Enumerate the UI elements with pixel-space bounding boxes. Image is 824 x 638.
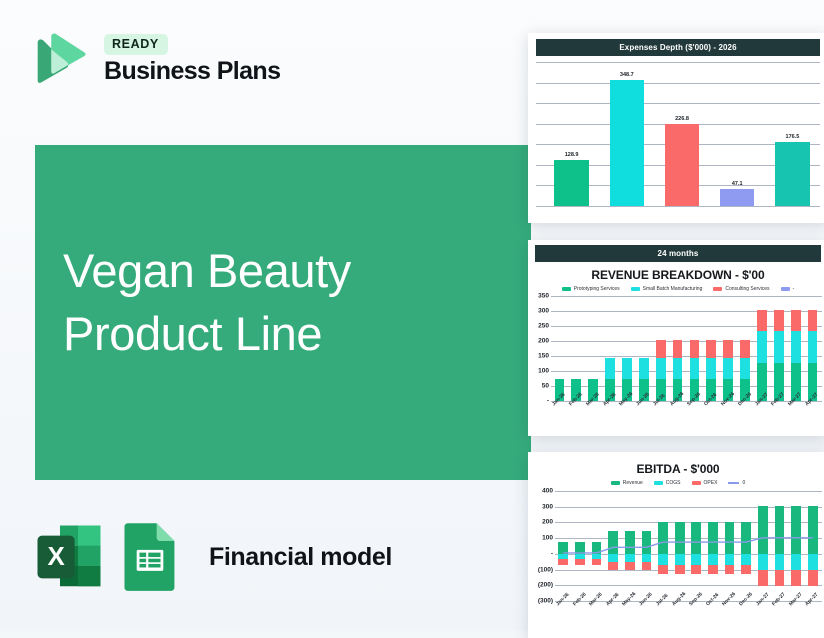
y-tick-label: 100 xyxy=(538,368,549,375)
diverging-bar-column[interactable] xyxy=(638,491,655,601)
stacked-bar-column[interactable] xyxy=(568,296,585,401)
stack-segment-revenue[interactable] xyxy=(725,522,735,554)
diverging-bar-column[interactable] xyxy=(655,491,672,601)
y-tick-label: 200 xyxy=(538,338,549,345)
legend-item: 0 xyxy=(728,480,745,486)
bar-column[interactable]: 128.9 xyxy=(544,62,599,206)
y-tick-label: (300) xyxy=(538,598,553,605)
stacked-bar-column[interactable] xyxy=(787,296,804,401)
diverging-bar-column[interactable] xyxy=(605,491,622,601)
stack-segment-revenue[interactable] xyxy=(558,542,568,554)
brand-name: Business Plans xyxy=(104,58,280,84)
stack-segment[interactable] xyxy=(774,331,784,363)
legend-item: Prototyping Services xyxy=(562,286,620,292)
stack-segment-revenue[interactable] xyxy=(658,522,668,554)
stack-segment-revenue[interactable] xyxy=(741,522,751,554)
stack-segment[interactable] xyxy=(673,340,683,358)
bar-value-label: 226.8 xyxy=(675,116,689,122)
y-tick-label: 350 xyxy=(538,293,549,300)
stack-segment-cogs[interactable] xyxy=(791,554,801,571)
legend-label: Prototyping Services xyxy=(574,286,620,292)
ready-badge: READY xyxy=(104,34,168,54)
legend-swatch xyxy=(631,287,640,291)
y-tick-label: 50 xyxy=(542,383,549,390)
bar[interactable] xyxy=(775,142,809,206)
stack-segment-opex[interactable] xyxy=(642,562,652,570)
stack-segment-cogs[interactable] xyxy=(642,554,652,563)
diverging-bar-column[interactable] xyxy=(688,491,705,601)
stacked-bar-column[interactable] xyxy=(686,296,703,401)
stack-segment-cogs[interactable] xyxy=(725,554,735,565)
chart-card-ebitda[interactable]: EBITDA - $'000 RevenueCOGSOPEX0 40030020… xyxy=(528,452,824,638)
stack-segment-revenue[interactable] xyxy=(691,522,701,554)
stack-segment[interactable] xyxy=(723,358,733,379)
revenue-plot-area: 35030025020015010050-Jan-26Feb-26Mar-26A… xyxy=(534,296,822,401)
stacked-bar-column[interactable] xyxy=(754,296,771,401)
stacked-bar-column[interactable] xyxy=(585,296,602,401)
stack-segment-opex[interactable] xyxy=(791,570,801,585)
diverging-bar-column[interactable] xyxy=(721,491,738,601)
stack-segment-opex[interactable] xyxy=(625,562,635,570)
ebitda-legend: RevenueCOGSOPEX0 xyxy=(528,478,824,489)
bar-value-label: 348.7 xyxy=(620,72,634,78)
y-tick-label: - xyxy=(547,398,549,405)
stack-segment-cogs[interactable] xyxy=(708,554,718,565)
stack-segment-revenue[interactable] xyxy=(608,531,618,554)
bar-value-label: 47.1 xyxy=(732,181,743,187)
stack-segment-opex[interactable] xyxy=(741,565,751,574)
legend-label: OPEX xyxy=(704,480,718,486)
diverging-bar-column[interactable] xyxy=(804,491,821,601)
stack-segment-cogs[interactable] xyxy=(741,554,751,565)
stacked-bar-group xyxy=(551,296,821,401)
stacked-bar-column[interactable] xyxy=(720,296,737,401)
google-sheets-icon xyxy=(121,521,187,593)
stack-segment-opex[interactable] xyxy=(758,570,768,585)
stacked-bar-column[interactable] xyxy=(737,296,754,401)
stack-segment-cogs[interactable] xyxy=(808,554,818,571)
y-tick-label: - xyxy=(551,550,553,557)
y-tick-label: 400 xyxy=(542,488,553,495)
ebitda-plot-area: 400300200100-(100)(200)(300)Jan-26Feb-26… xyxy=(534,491,822,601)
stack-segment-cogs[interactable] xyxy=(691,554,701,565)
stack-segment[interactable] xyxy=(757,331,767,363)
stack-segment[interactable] xyxy=(740,358,750,379)
stack-segment[interactable] xyxy=(673,358,683,379)
diverging-bar-column[interactable] xyxy=(622,491,639,601)
stacked-bar-column[interactable] xyxy=(635,296,652,401)
bar[interactable] xyxy=(720,189,754,206)
stacked-bar-column[interactable] xyxy=(770,296,787,401)
stacked-bar-column[interactable] xyxy=(619,296,636,401)
stack-segment[interactable] xyxy=(723,340,733,358)
legend-label: - xyxy=(793,286,795,292)
stack-segment-opex[interactable] xyxy=(775,570,785,585)
bar[interactable] xyxy=(554,160,588,206)
y-axis-labels: 400300200100-(100)(200)(300) xyxy=(534,491,555,601)
microsoft-excel-icon: X xyxy=(33,521,105,593)
stacked-bar-column[interactable] xyxy=(652,296,669,401)
legend-swatch xyxy=(611,481,620,485)
stack-segment[interactable] xyxy=(757,310,767,332)
stack-segment-opex[interactable] xyxy=(558,559,568,565)
y-tick-label: 200 xyxy=(542,519,553,526)
legend-label: COGS xyxy=(666,480,681,486)
diverging-bar-column[interactable] xyxy=(555,491,572,601)
stack-segment-opex[interactable] xyxy=(725,565,735,574)
stack-segment-opex[interactable] xyxy=(575,559,585,565)
play-triangles-logo xyxy=(28,28,90,90)
stacked-bar-column[interactable] xyxy=(551,296,568,401)
stack-segment[interactable] xyxy=(774,310,784,332)
legend-item: - xyxy=(781,286,795,292)
stack-segment-cogs[interactable] xyxy=(775,554,785,571)
hero-panel: Vegan Beauty Product Line xyxy=(35,145,531,480)
diverging-bar-column[interactable] xyxy=(738,491,755,601)
legend-item: OPEX xyxy=(692,480,718,486)
stack-segment-revenue[interactable] xyxy=(708,522,718,554)
stack-segment[interactable] xyxy=(706,340,716,358)
diverging-bar-column[interactable] xyxy=(755,491,772,601)
diverging-bar-column[interactable] xyxy=(588,491,605,601)
stack-segment-cogs[interactable] xyxy=(675,554,685,565)
bar-column[interactable]: 47.1 xyxy=(710,62,765,206)
stack-segment-revenue[interactable] xyxy=(625,531,635,554)
stack-segment-revenue[interactable] xyxy=(675,522,685,554)
legend-item: COGS xyxy=(654,480,681,486)
bar[interactable] xyxy=(665,124,699,206)
stack-segment-revenue[interactable] xyxy=(758,506,768,554)
stacked-bar-column[interactable] xyxy=(804,296,821,401)
stack-segment-cogs[interactable] xyxy=(658,554,668,565)
footer-label: Financial model xyxy=(209,543,392,572)
bar-value-label: 176.5 xyxy=(786,134,800,140)
footer-formats: X Financial model xyxy=(33,521,392,593)
stack-segment[interactable] xyxy=(808,310,818,332)
chart-card-revenue[interactable]: 24 months REVENUE BREAKDOWN - $'00 Proto… xyxy=(528,240,824,436)
x-axis-labels: Jan-26Feb-26Mar-26Apr-26May-26Jun-26Jul-… xyxy=(555,603,821,609)
stacked-bar-column[interactable] xyxy=(703,296,720,401)
stack-segment[interactable] xyxy=(791,310,801,332)
legend-item: Revenue xyxy=(611,480,643,486)
x-axis-labels: Jan-26Feb-26Mar-26Apr-26May-26Jun-26Jul-… xyxy=(551,403,821,409)
bar[interactable] xyxy=(610,80,644,206)
stack-segment-revenue[interactable] xyxy=(642,531,652,554)
ebitda-chart-title: EBITDA - $'000 xyxy=(528,452,824,478)
bar-column[interactable]: 348.7 xyxy=(599,62,654,206)
legend-swatch xyxy=(562,287,571,291)
stack-segment[interactable] xyxy=(740,340,750,358)
page-title: Vegan Beauty Product Line xyxy=(63,240,511,365)
diverging-bar-column[interactable] xyxy=(788,491,805,601)
stack-segment[interactable] xyxy=(605,358,615,379)
stack-segment[interactable] xyxy=(656,340,666,358)
legend-swatch xyxy=(713,287,722,291)
stack-segment-cogs[interactable] xyxy=(625,554,635,563)
revenue-legend: Prototyping ServicesSmall Batch Manufact… xyxy=(528,284,824,295)
legend-swatch xyxy=(692,481,701,485)
stack-segment-revenue[interactable] xyxy=(575,542,585,554)
y-tick-label: 300 xyxy=(538,308,549,315)
diverging-bar-column[interactable] xyxy=(705,491,722,601)
bar-column[interactable]: 226.8 xyxy=(654,62,709,206)
legend-label: Revenue xyxy=(623,480,643,486)
stack-segment[interactable] xyxy=(622,358,632,379)
legend-item: Small Batch Manufacturing xyxy=(631,286,703,292)
chart-card-expenses[interactable]: Expenses Depth ($'000) - 2026 128.9348.7… xyxy=(528,33,824,223)
brand-header: READY Business Plans xyxy=(28,28,280,90)
stack-segment[interactable] xyxy=(808,331,818,363)
y-tick-label: (200) xyxy=(538,582,553,589)
stack-segment-opex[interactable] xyxy=(675,565,685,574)
expenses-chart-title: Expenses Depth ($'000) - 2026 xyxy=(536,39,820,56)
stack-segment-opex[interactable] xyxy=(708,565,718,574)
legend-label: Small Batch Manufacturing xyxy=(643,286,703,292)
diverging-bar-group xyxy=(555,491,821,601)
y-axis-labels: 35030025020015010050- xyxy=(534,296,551,401)
stack-segment[interactable] xyxy=(690,358,700,379)
legend-swatch xyxy=(781,287,790,291)
stacked-bar-column[interactable] xyxy=(602,296,619,401)
stack-segment-opex[interactable] xyxy=(808,570,818,585)
bar-value-label: 128.9 xyxy=(565,152,579,158)
y-tick-label: (100) xyxy=(538,566,553,573)
brand-text-block: READY Business Plans xyxy=(104,34,280,84)
y-tick-label: 300 xyxy=(542,503,553,510)
stack-segment[interactable] xyxy=(639,358,649,379)
legend-label: 0 xyxy=(742,480,745,486)
slide-canvas: READY Business Plans Vegan Beauty Produc… xyxy=(0,0,824,631)
expenses-plot-area: 128.9348.7226.847.1176.5 xyxy=(536,62,820,210)
gridline xyxy=(536,206,820,207)
stacked-bar-column[interactable] xyxy=(669,296,686,401)
stack-segment-opex[interactable] xyxy=(608,562,618,570)
bar-column[interactable]: 176.5 xyxy=(765,62,820,206)
svg-text:X: X xyxy=(47,543,65,571)
stack-segment-opex[interactable] xyxy=(592,559,602,565)
legend-item: Consulting Services xyxy=(713,286,769,292)
y-tick-label: 100 xyxy=(542,535,553,542)
stack-segment-opex[interactable] xyxy=(691,565,701,574)
stack-segment[interactable] xyxy=(690,340,700,358)
stack-segment-cogs[interactable] xyxy=(758,554,768,571)
stack-segment[interactable] xyxy=(656,358,666,379)
y-tick-label: 250 xyxy=(538,323,549,330)
diverging-bar-column[interactable] xyxy=(572,491,589,601)
diverging-bar-column[interactable] xyxy=(771,491,788,601)
revenue-chart-title: REVENUE BREAKDOWN - $'00 xyxy=(528,262,824,284)
stack-segment-revenue[interactable] xyxy=(791,506,801,554)
legend-label: Consulting Services xyxy=(725,286,769,292)
stack-segment-cogs[interactable] xyxy=(608,554,618,563)
stack-segment[interactable] xyxy=(706,358,716,379)
revenue-banner: 24 months xyxy=(535,245,821,262)
bar-group: 128.9348.7226.847.1176.5 xyxy=(544,62,820,206)
stack-segment-revenue[interactable] xyxy=(592,542,602,554)
diverging-bar-column[interactable] xyxy=(671,491,688,601)
stack-segment-opex[interactable] xyxy=(658,565,668,574)
legend-swatch xyxy=(654,481,663,485)
stack-segment[interactable] xyxy=(791,331,801,363)
stack-segment-revenue[interactable] xyxy=(775,506,785,554)
stack-segment-revenue[interactable] xyxy=(808,506,818,554)
legend-swatch xyxy=(728,482,739,484)
y-tick-label: 150 xyxy=(538,353,549,360)
